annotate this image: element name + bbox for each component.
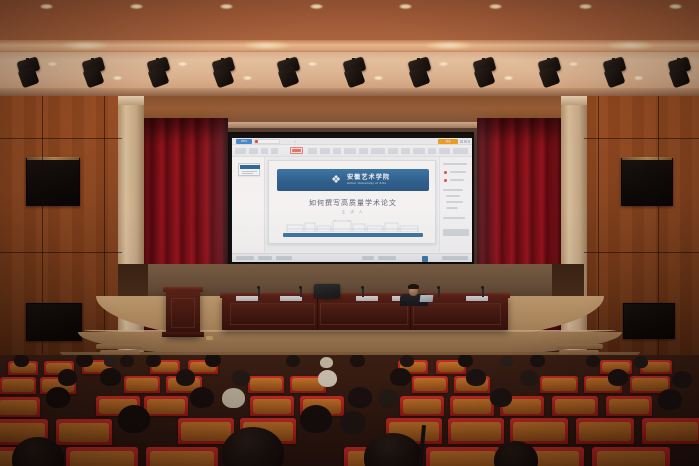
microphone-stem — [362, 288, 364, 297]
ceiling-accent-light — [634, 76, 643, 80]
attendee-head — [176, 369, 195, 386]
seat-cushion — [542, 378, 575, 391]
seat — [250, 396, 294, 416]
auditorium-photo: WPS + 登录 — [0, 0, 699, 466]
seat-cushion — [597, 451, 666, 466]
name-card — [466, 296, 488, 301]
sign-in-button[interactable]: 登录 — [438, 139, 458, 144]
seat-cushion — [451, 422, 500, 441]
thumbnail-banner — [240, 165, 260, 169]
wall-seam — [584, 138, 699, 139]
seat — [0, 377, 36, 394]
stage-spotlight — [342, 58, 368, 88]
seat — [642, 418, 699, 444]
confidence-monitor — [314, 284, 340, 298]
microphone-stem — [258, 288, 260, 297]
pilaster-cap-right — [561, 96, 587, 105]
stage-spotlight — [537, 58, 563, 88]
stage-step-left — [96, 344, 142, 349]
pane-card[interactable] — [443, 229, 469, 236]
status-view-label — [258, 256, 272, 260]
wall-seam — [42, 96, 43, 364]
attendee-head-gray — [320, 357, 333, 368]
seat — [552, 396, 598, 416]
ribbon-button[interactable] — [401, 148, 410, 154]
microphone-stem — [438, 288, 440, 297]
wall-seam — [598, 96, 599, 364]
seat-cushion — [70, 451, 133, 466]
beam-light-glow — [426, 42, 472, 49]
ceiling-accent-light — [569, 62, 578, 66]
slide-title-banner: ❖ 安徽艺术学院 Anhui University of Arts — [277, 169, 429, 191]
microphone-stem — [482, 288, 484, 297]
ribbon-button[interactable] — [261, 148, 268, 154]
attendee-head — [286, 355, 300, 367]
wall-seam — [658, 96, 659, 364]
stage-spotlight — [667, 58, 693, 88]
pane-row[interactable] — [446, 195, 460, 197]
seat — [450, 396, 494, 416]
attendee-head — [46, 387, 70, 408]
attendee-head — [658, 389, 682, 410]
beam-light-glow — [244, 42, 290, 49]
attendee-head-light — [222, 388, 245, 408]
slideshow-button[interactable] — [422, 256, 428, 262]
ceiling-downlight — [130, 4, 143, 9]
attendee-head — [500, 356, 513, 367]
presenter-hair — [408, 284, 419, 289]
ribbon-highlight-fill — [292, 149, 301, 152]
seat-cushion — [430, 451, 495, 466]
attendee-head — [378, 389, 399, 408]
pane-row[interactable] — [443, 217, 465, 219]
slide-accent-bar — [283, 233, 423, 237]
pane-row[interactable] — [450, 179, 464, 181]
seat-cushion — [632, 378, 667, 391]
seat-cushion — [126, 378, 158, 391]
name-card — [236, 296, 258, 301]
ribbon-button[interactable] — [308, 148, 317, 154]
status-extra — [276, 256, 292, 260]
app-status-bar — [232, 253, 472, 262]
seat-cushion — [414, 378, 446, 391]
ribbon-button[interactable] — [320, 148, 330, 154]
seat-cushion — [403, 399, 442, 414]
seat-cushion — [59, 423, 108, 442]
attendee-head — [340, 411, 366, 434]
ceiling-accent-light — [439, 62, 448, 66]
pane-status-dot — [444, 171, 447, 174]
ceiling-downlight — [310, 4, 323, 9]
university-name-en: Anhui University of Arts — [347, 181, 386, 185]
ribbon-button[interactable] — [344, 148, 356, 154]
seat-cushion — [609, 399, 649, 414]
attendee-head — [458, 355, 473, 367]
table-front-panel — [320, 303, 408, 325]
ribbon-button[interactable] — [439, 148, 450, 154]
attendee-head — [118, 405, 150, 433]
attendee-head — [350, 355, 365, 367]
audience-seating — [0, 355, 699, 466]
ribbon-button[interactable] — [359, 148, 368, 154]
attendee-head-foreground — [494, 441, 538, 466]
pilaster-cap-left — [118, 96, 144, 105]
seat — [400, 396, 444, 416]
pane-row[interactable] — [443, 163, 467, 165]
attendee-head — [300, 405, 332, 433]
stage-spotlight — [472, 58, 498, 88]
wall-seam — [104, 96, 105, 364]
ceiling-accent-light — [504, 76, 513, 80]
pane-row[interactable] — [450, 171, 466, 173]
seat — [56, 419, 112, 445]
attendee-head — [672, 371, 692, 388]
slide-thumbnail-pane[interactable] — [232, 157, 265, 252]
attendee-head — [520, 370, 538, 386]
stage-spotlight — [146, 58, 172, 88]
seat-cushion — [453, 399, 492, 414]
seat — [592, 447, 670, 466]
status-view-buttons[interactable] — [378, 256, 396, 260]
attendee-head — [232, 370, 250, 386]
attendee-head-gray — [318, 370, 337, 387]
ribbon-button[interactable] — [453, 148, 468, 154]
university-logo-icon: ❖ — [329, 173, 343, 187]
ribbon-button[interactable] — [388, 148, 398, 154]
seat — [146, 447, 218, 466]
stage-spotlight — [602, 58, 628, 88]
attendee-head — [390, 368, 411, 386]
seat-cushion — [646, 422, 699, 441]
slide-subtitle-text: 主 讲 人 — [269, 210, 436, 215]
attendee-head — [76, 355, 93, 367]
acoustic-panel-left-upper — [26, 158, 80, 206]
table-seam — [317, 298, 318, 330]
ribbon-button[interactable] — [249, 148, 258, 154]
stage-spotlight — [407, 58, 433, 88]
seat — [248, 376, 284, 393]
attendee-head — [634, 356, 648, 368]
attendee-head — [586, 355, 600, 367]
attendee-head — [466, 369, 486, 386]
acoustic-panel-right-lower — [623, 303, 675, 339]
slide-thumbnail-1[interactable] — [238, 163, 260, 176]
attendee-head — [100, 368, 121, 386]
ceiling-downlight — [40, 4, 53, 9]
seat — [0, 397, 40, 417]
app-ribbon — [232, 145, 472, 157]
attendee-head — [120, 355, 134, 367]
attendee-head — [400, 355, 414, 367]
pilaster-right — [561, 96, 587, 364]
seat — [448, 418, 504, 444]
status-slide-indicator — [236, 256, 254, 260]
thumbnail-line — [242, 175, 258, 176]
attendee-head — [490, 388, 512, 407]
floor-cable-box — [206, 336, 213, 340]
new-tab-button[interactable]: + — [294, 139, 296, 144]
panel-trim — [622, 157, 672, 160]
thumbnail-line — [242, 173, 253, 174]
slide-canvas[interactable]: ❖ 安徽艺术学院 Anhui University of Arts 如何撰写高质… — [268, 160, 436, 244]
seat-cushion — [250, 378, 282, 391]
ribbon-button[interactable] — [333, 148, 341, 154]
seat — [510, 418, 568, 444]
attendee-head — [205, 355, 221, 367]
ceiling-accent-light — [48, 62, 57, 66]
seat — [426, 447, 500, 466]
attendee-head — [608, 369, 628, 386]
presentation-file-icon — [255, 140, 258, 143]
wall-seam — [584, 252, 699, 253]
stage-spotlight — [16, 58, 42, 88]
presenter-laptop — [420, 295, 434, 302]
acoustic-panel-left-lower — [26, 303, 82, 341]
campus-illustration — [283, 220, 423, 232]
seat-cushion — [181, 422, 230, 441]
slide-title-text: 如何撰写高质量学术论文 — [269, 198, 436, 208]
stage-spotlight — [81, 58, 107, 88]
beam-light-glow — [608, 42, 654, 49]
seat-cushion — [147, 399, 186, 414]
ceiling-accent-light — [374, 76, 383, 80]
seat-cushion — [253, 399, 292, 414]
attendee-head — [530, 355, 545, 367]
ribbon-button[interactable] — [235, 148, 246, 154]
microphone-head — [257, 286, 260, 289]
editor-body: ❖ 安徽艺术学院 Anhui University of Arts 如何撰写高质… — [232, 157, 472, 252]
podium-base — [162, 332, 204, 337]
name-card — [280, 296, 302, 301]
panel-trim — [27, 157, 79, 160]
attendee-head — [146, 355, 161, 367]
ribbon-button[interactable] — [371, 148, 385, 154]
seat — [540, 376, 578, 393]
microphone-stem — [300, 288, 302, 297]
seat — [124, 376, 160, 393]
ceiling-downlight — [669, 4, 682, 9]
seat — [66, 447, 138, 466]
podium-front-inset — [171, 298, 195, 328]
projection-screen: WPS + 登录 — [228, 132, 474, 264]
ceiling-downlight — [220, 4, 233, 9]
seat-cushion — [513, 422, 564, 441]
projected-desktop: WPS + 登录 — [232, 138, 472, 262]
thumbnail-line — [242, 171, 257, 172]
microphone-head — [361, 286, 364, 289]
seat — [144, 396, 188, 416]
name-card — [356, 296, 378, 301]
window-controls[interactable] — [460, 140, 470, 143]
microphone-head — [437, 286, 440, 289]
app-tab-bar: WPS + 登录 — [232, 138, 472, 145]
acoustic-panel-right-upper — [621, 158, 673, 206]
status-view-buttons[interactable] — [362, 256, 374, 260]
beam-light-glow — [62, 42, 108, 49]
attendee-head — [58, 369, 77, 386]
attendee-head — [348, 387, 372, 408]
seat-cushion — [579, 422, 630, 441]
pane-row[interactable] — [443, 189, 463, 191]
attendee-head — [190, 387, 214, 408]
pane-row[interactable] — [446, 207, 458, 209]
attendee-head — [14, 355, 29, 367]
microphone-head — [481, 286, 484, 289]
seat — [606, 396, 652, 416]
seat — [412, 376, 448, 393]
status-zoom-slider[interactable] — [442, 256, 468, 260]
stage-spotlight — [276, 58, 302, 88]
pane-status-dot — [444, 179, 447, 182]
seat-cushion — [2, 379, 34, 392]
ribbon-button[interactable] — [271, 148, 278, 154]
stage-spotlight — [211, 58, 237, 88]
seat — [576, 418, 634, 444]
attendee-head — [104, 356, 117, 367]
microphone-head — [299, 286, 302, 289]
pane-row[interactable] — [446, 201, 463, 203]
seat-cushion — [555, 399, 595, 414]
monitor-stand — [324, 297, 330, 300]
design-task-pane[interactable] — [439, 157, 472, 252]
table-front-panel — [413, 303, 501, 325]
table-front-panel — [230, 303, 315, 325]
tab-app-home[interactable]: WPS — [236, 139, 252, 144]
ribbon-button[interactable] — [413, 148, 425, 154]
stage-step-right — [557, 344, 603, 349]
seat-cushion — [0, 400, 37, 415]
ribbon-button[interactable] — [428, 148, 436, 154]
seat-cushion — [150, 451, 213, 466]
